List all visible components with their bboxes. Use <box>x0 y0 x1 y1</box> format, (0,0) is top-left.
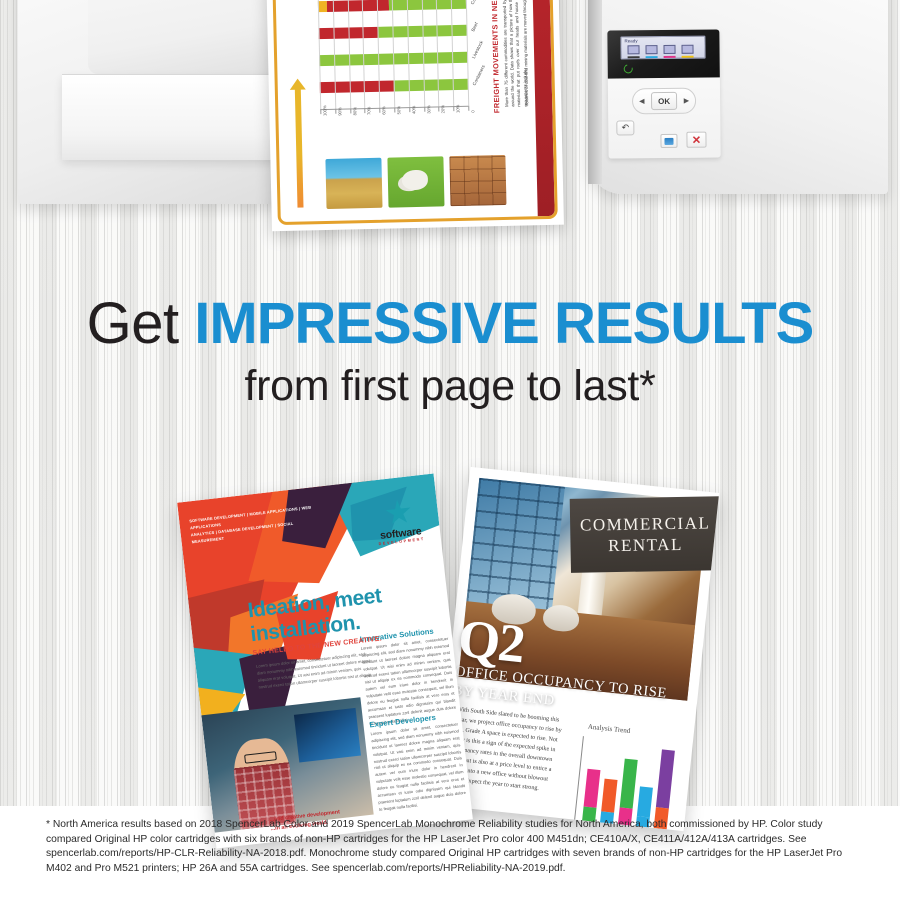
headline-line-2: from first page to last* <box>0 360 900 412</box>
toner-gauge-cyan <box>645 45 657 58</box>
freight-bar-segment-red <box>327 0 389 12</box>
headline-block: Get IMPRESSIVE RESULTS from first page t… <box>0 292 900 412</box>
freight-x-tick <box>468 106 469 111</box>
headline-emphasis: IMPRESSIVE RESULTS <box>194 291 813 356</box>
star-burst-icon <box>384 498 413 527</box>
freight-x-tick-label: 40% <box>411 106 416 115</box>
analysis-trend-title: Analysis Trend <box>588 723 631 735</box>
analysis-trend-chart <box>574 736 682 830</box>
toner-gauge-yellow <box>681 45 693 58</box>
freight-article-heading: FREIGHT MOVEMENTS IN NEW SOUTH WALES <box>488 0 501 113</box>
sheep-grazing-photo <box>387 156 444 207</box>
freight-x-tick-label: 70% <box>367 107 372 116</box>
analysis-trend-bar <box>582 769 600 822</box>
freight-bar-segment-yellow <box>318 1 327 12</box>
bar-top-segment <box>601 779 617 813</box>
job-icon <box>664 137 673 144</box>
freight-x-tick <box>409 107 410 112</box>
commercial-rental-banner: COMMERCIAL RENTAL <box>570 496 719 573</box>
printer-control-panel[interactable]: Ready <box>607 29 720 158</box>
control-panel-bezel: Ready <box>607 29 719 78</box>
freight-x-tick <box>424 107 425 112</box>
timber-logs-photo <box>449 155 506 206</box>
freight-photo-strip <box>325 155 506 209</box>
freight-x-tick <box>335 109 336 114</box>
legal-footnote: * North America results based on 2018 Sp… <box>46 818 864 876</box>
freight-x-tick-label: 100% <box>322 105 327 116</box>
freight-x-tick-label: 80% <box>352 107 357 116</box>
freight-x-tick-label: 30% <box>426 105 431 114</box>
freight-x-tick <box>350 108 351 113</box>
bar-top-segment <box>637 786 653 817</box>
wheat-field-photo <box>325 158 382 209</box>
brochure-software-development: SOFTWARE DEVELOPMENT | MOBILE APPLICATIO… <box>177 474 473 849</box>
brochure-group: COMMERCIAL RENTAL Q2 OFFICE OCCUPANCY TO… <box>0 455 900 815</box>
software-logo: software DEVELOPMENT <box>374 497 425 546</box>
back-button[interactable]: ↶ <box>616 120 634 135</box>
ready-led-icon <box>622 63 634 75</box>
right-arrow-icon[interactable]: ▶ <box>684 97 689 104</box>
freight-x-tick-label: 0 <box>470 110 475 112</box>
freight-x-tick-label: 10% <box>455 105 460 114</box>
freight-x-tick-label: 90% <box>337 107 342 116</box>
freight-x-tick <box>320 109 321 114</box>
bar-top-segment <box>584 769 601 809</box>
section-body-innovative: Lorem ipsum dolor sit amet, consectetuer… <box>361 636 458 728</box>
freight-article-column: FREIGHT MOVEMENTS IN NEW SOUTH WALES Mor… <box>479 0 546 125</box>
printer-scene: Ready <box>0 0 900 244</box>
bar-top-segment <box>656 749 675 808</box>
ok-button[interactable]: OK <box>651 92 677 110</box>
poster-canvas: Ready <box>0 0 900 900</box>
upward-arrow-shaft <box>295 88 304 208</box>
freight-x-tick-label: 50% <box>396 106 401 115</box>
analysis-trend-bar <box>618 759 638 826</box>
lcd-status-text: Ready <box>624 38 637 43</box>
freight-y-category-label: Cotton <box>470 0 481 5</box>
toner-gauge-magenta <box>663 45 675 58</box>
printed-page-frame: FREIGHT MODES F NSW ANNUAL PERCENTAGES F… <box>270 0 558 225</box>
analysis-trend-bar <box>600 779 617 824</box>
cancel-button[interactable]: ✕ <box>686 132 706 148</box>
freight-y-category-label: Beef <box>470 22 479 33</box>
freight-bar-chart <box>315 0 468 109</box>
bar-top-segment <box>620 759 638 809</box>
freight-bar-segment-green <box>394 79 468 92</box>
freight-bar-segment-green <box>389 0 466 11</box>
printer-right-edge <box>588 0 602 184</box>
toner-gauge-black <box>627 45 639 58</box>
headline-line-1: Get IMPRESSIVE RESULTS <box>0 292 900 356</box>
banner-line-2: RENTAL <box>608 534 683 556</box>
left-arrow-icon[interactable]: ◀ <box>639 98 644 105</box>
freight-bar-segment-red <box>320 80 394 93</box>
toner-level-gauges <box>627 45 693 59</box>
freight-x-tick-label: 60% <box>381 106 386 115</box>
freight-x-tick-label: 20% <box>441 105 446 114</box>
headline-lead-word: Get <box>87 291 195 356</box>
brochure-commercial-rental: COMMERCIAL RENTAL Q2 OFFICE OCCUPANCY TO… <box>435 467 719 831</box>
navigation-pad[interactable]: ◀ OK ▶ <box>632 88 696 115</box>
printed-output-sheet: FREIGHT MODES F NSW ANNUAL PERCENTAGES F… <box>264 0 564 231</box>
freight-x-tick <box>394 107 395 112</box>
banner-line-1: COMMERCIAL <box>580 512 711 535</box>
monitor-screen <box>294 708 361 763</box>
job-button[interactable] <box>660 134 677 148</box>
lcd-display: Ready <box>620 36 705 60</box>
